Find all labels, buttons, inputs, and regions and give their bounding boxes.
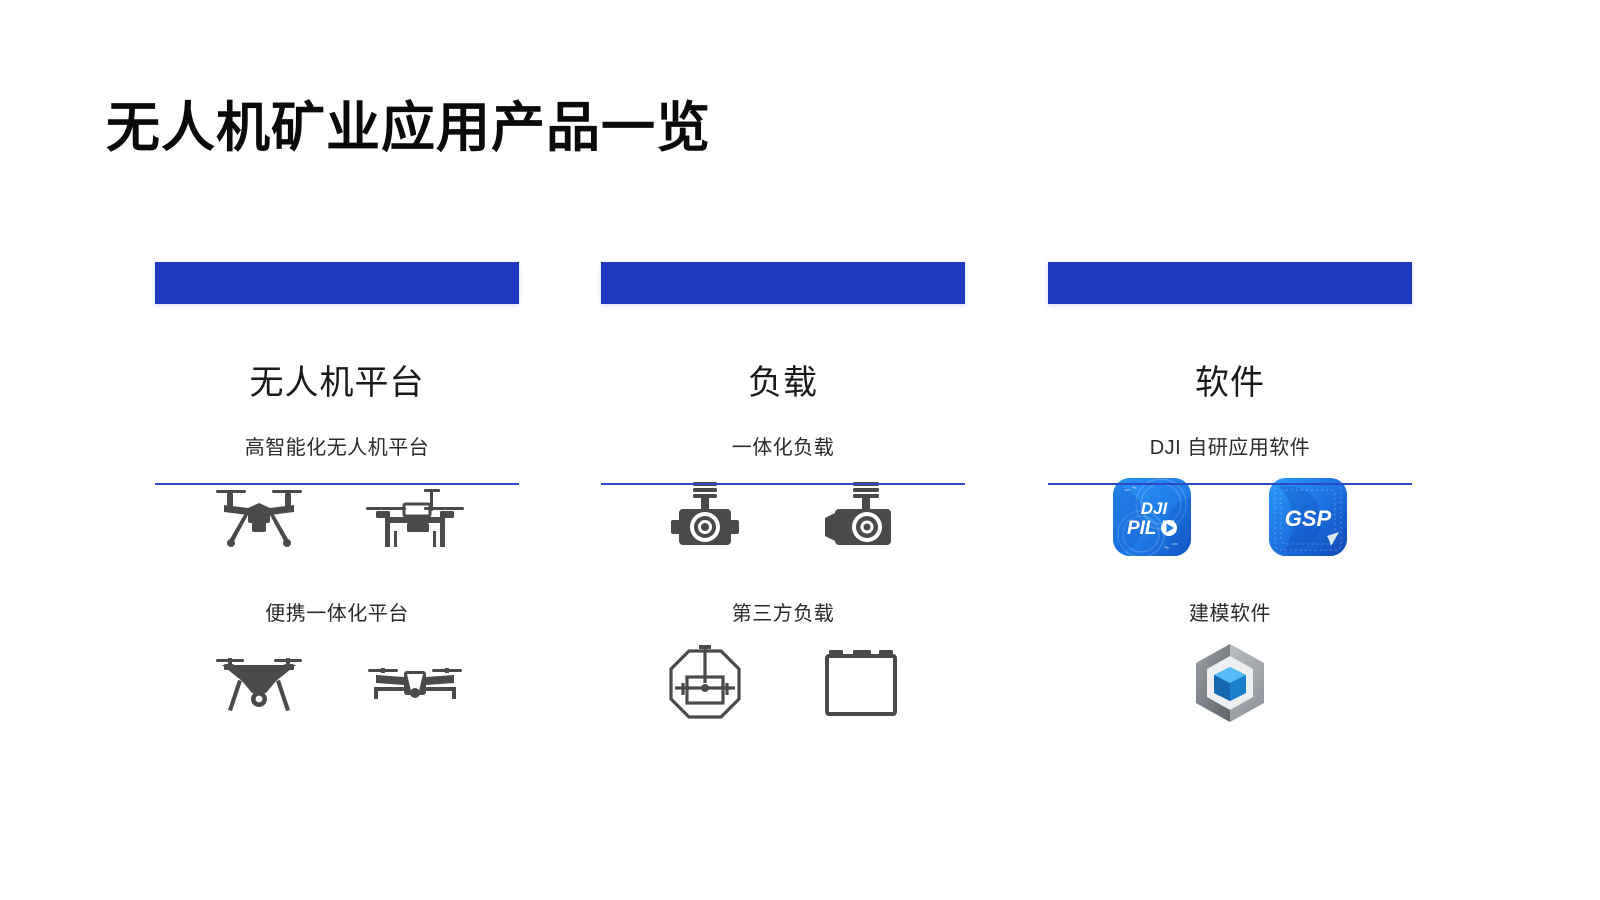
column-footer-divider-software — [1048, 483, 1412, 485]
icon-row-uav-portable — [155, 640, 519, 726]
column-header-bar-uav-platform — [155, 262, 519, 304]
group-label-uav-intelligent: 高智能化无人机平台 — [155, 438, 519, 458]
column-footer-divider-payload — [601, 483, 965, 485]
group-label-payload-thirdparty: 第三方负载 — [601, 604, 965, 624]
column-title-payload: 负载 — [601, 366, 965, 400]
column-software: 软件 DJI 自研应用软件 — [1048, 262, 1412, 726]
group-label-uav-portable: 便携一体化平台 — [155, 604, 519, 624]
lidar-sensor-icon — [643, 640, 767, 726]
icon-row-uav-intelligent — [155, 474, 519, 560]
icon-row-payload-thirdparty — [601, 640, 965, 726]
group-payload-integrated: 一体化负载 — [601, 438, 965, 560]
gimbal-camera-front-icon — [643, 474, 767, 560]
product-columns: 无人机平台 高智能化无人机平台 — [0, 262, 1600, 762]
column-title-software: 软件 — [1048, 366, 1412, 400]
matrice-frame-drone-icon — [353, 474, 477, 560]
slide-canvas: 无人机矿业应用产品一览 无人机平台 高智能化无人机平台 — [0, 0, 1600, 900]
matrice-quadcopter-icon — [197, 474, 321, 560]
payload-box-icon — [799, 640, 923, 726]
group-uav-portable: 便携一体化平台 — [155, 604, 519, 726]
group-payload-thirdparty: 第三方负载 — [601, 604, 965, 726]
icon-row-software-dji-apps: DJI PIL T — [1048, 474, 1412, 560]
group-software-dji-apps: DJI 自研应用软件 — [1048, 438, 1412, 560]
icon-row-payload-integrated — [601, 474, 965, 560]
column-header-bar-software — [1048, 262, 1412, 304]
phantom-drone-icon — [197, 640, 321, 726]
group-software-modeling: 建模软件 — [1048, 604, 1412, 726]
mavic-folding-drone-icon — [353, 640, 477, 726]
group-uav-intelligent: 高智能化无人机平台 — [155, 438, 519, 560]
gsp-label: GSP — [1285, 506, 1332, 531]
dji-pilot-line1: DJI — [1141, 499, 1169, 518]
gsp-app-icon[interactable]: GSP — [1246, 474, 1370, 560]
column-uav-platform: 无人机平台 高智能化无人机平台 — [155, 262, 519, 726]
dji-pilot-app-icon[interactable]: DJI PIL T — [1090, 474, 1214, 560]
column-footer-divider-uav-platform — [155, 483, 519, 485]
icon-row-software-modeling — [1048, 640, 1412, 726]
gimbal-camera-side-icon — [799, 474, 923, 560]
group-label-software-modeling: 建模软件 — [1048, 604, 1412, 624]
group-label-payload-integrated: 一体化负载 — [601, 438, 965, 458]
column-payload: 负载 一体化负载 — [601, 262, 965, 726]
group-label-software-dji-apps: DJI 自研应用软件 — [1048, 438, 1412, 458]
column-header-bar-payload — [601, 262, 965, 304]
page-title: 无人机矿业应用产品一览 — [106, 96, 711, 161]
modeling-cube-icon[interactable] — [1168, 640, 1292, 726]
column-title-uav-platform: 无人机平台 — [155, 366, 519, 400]
